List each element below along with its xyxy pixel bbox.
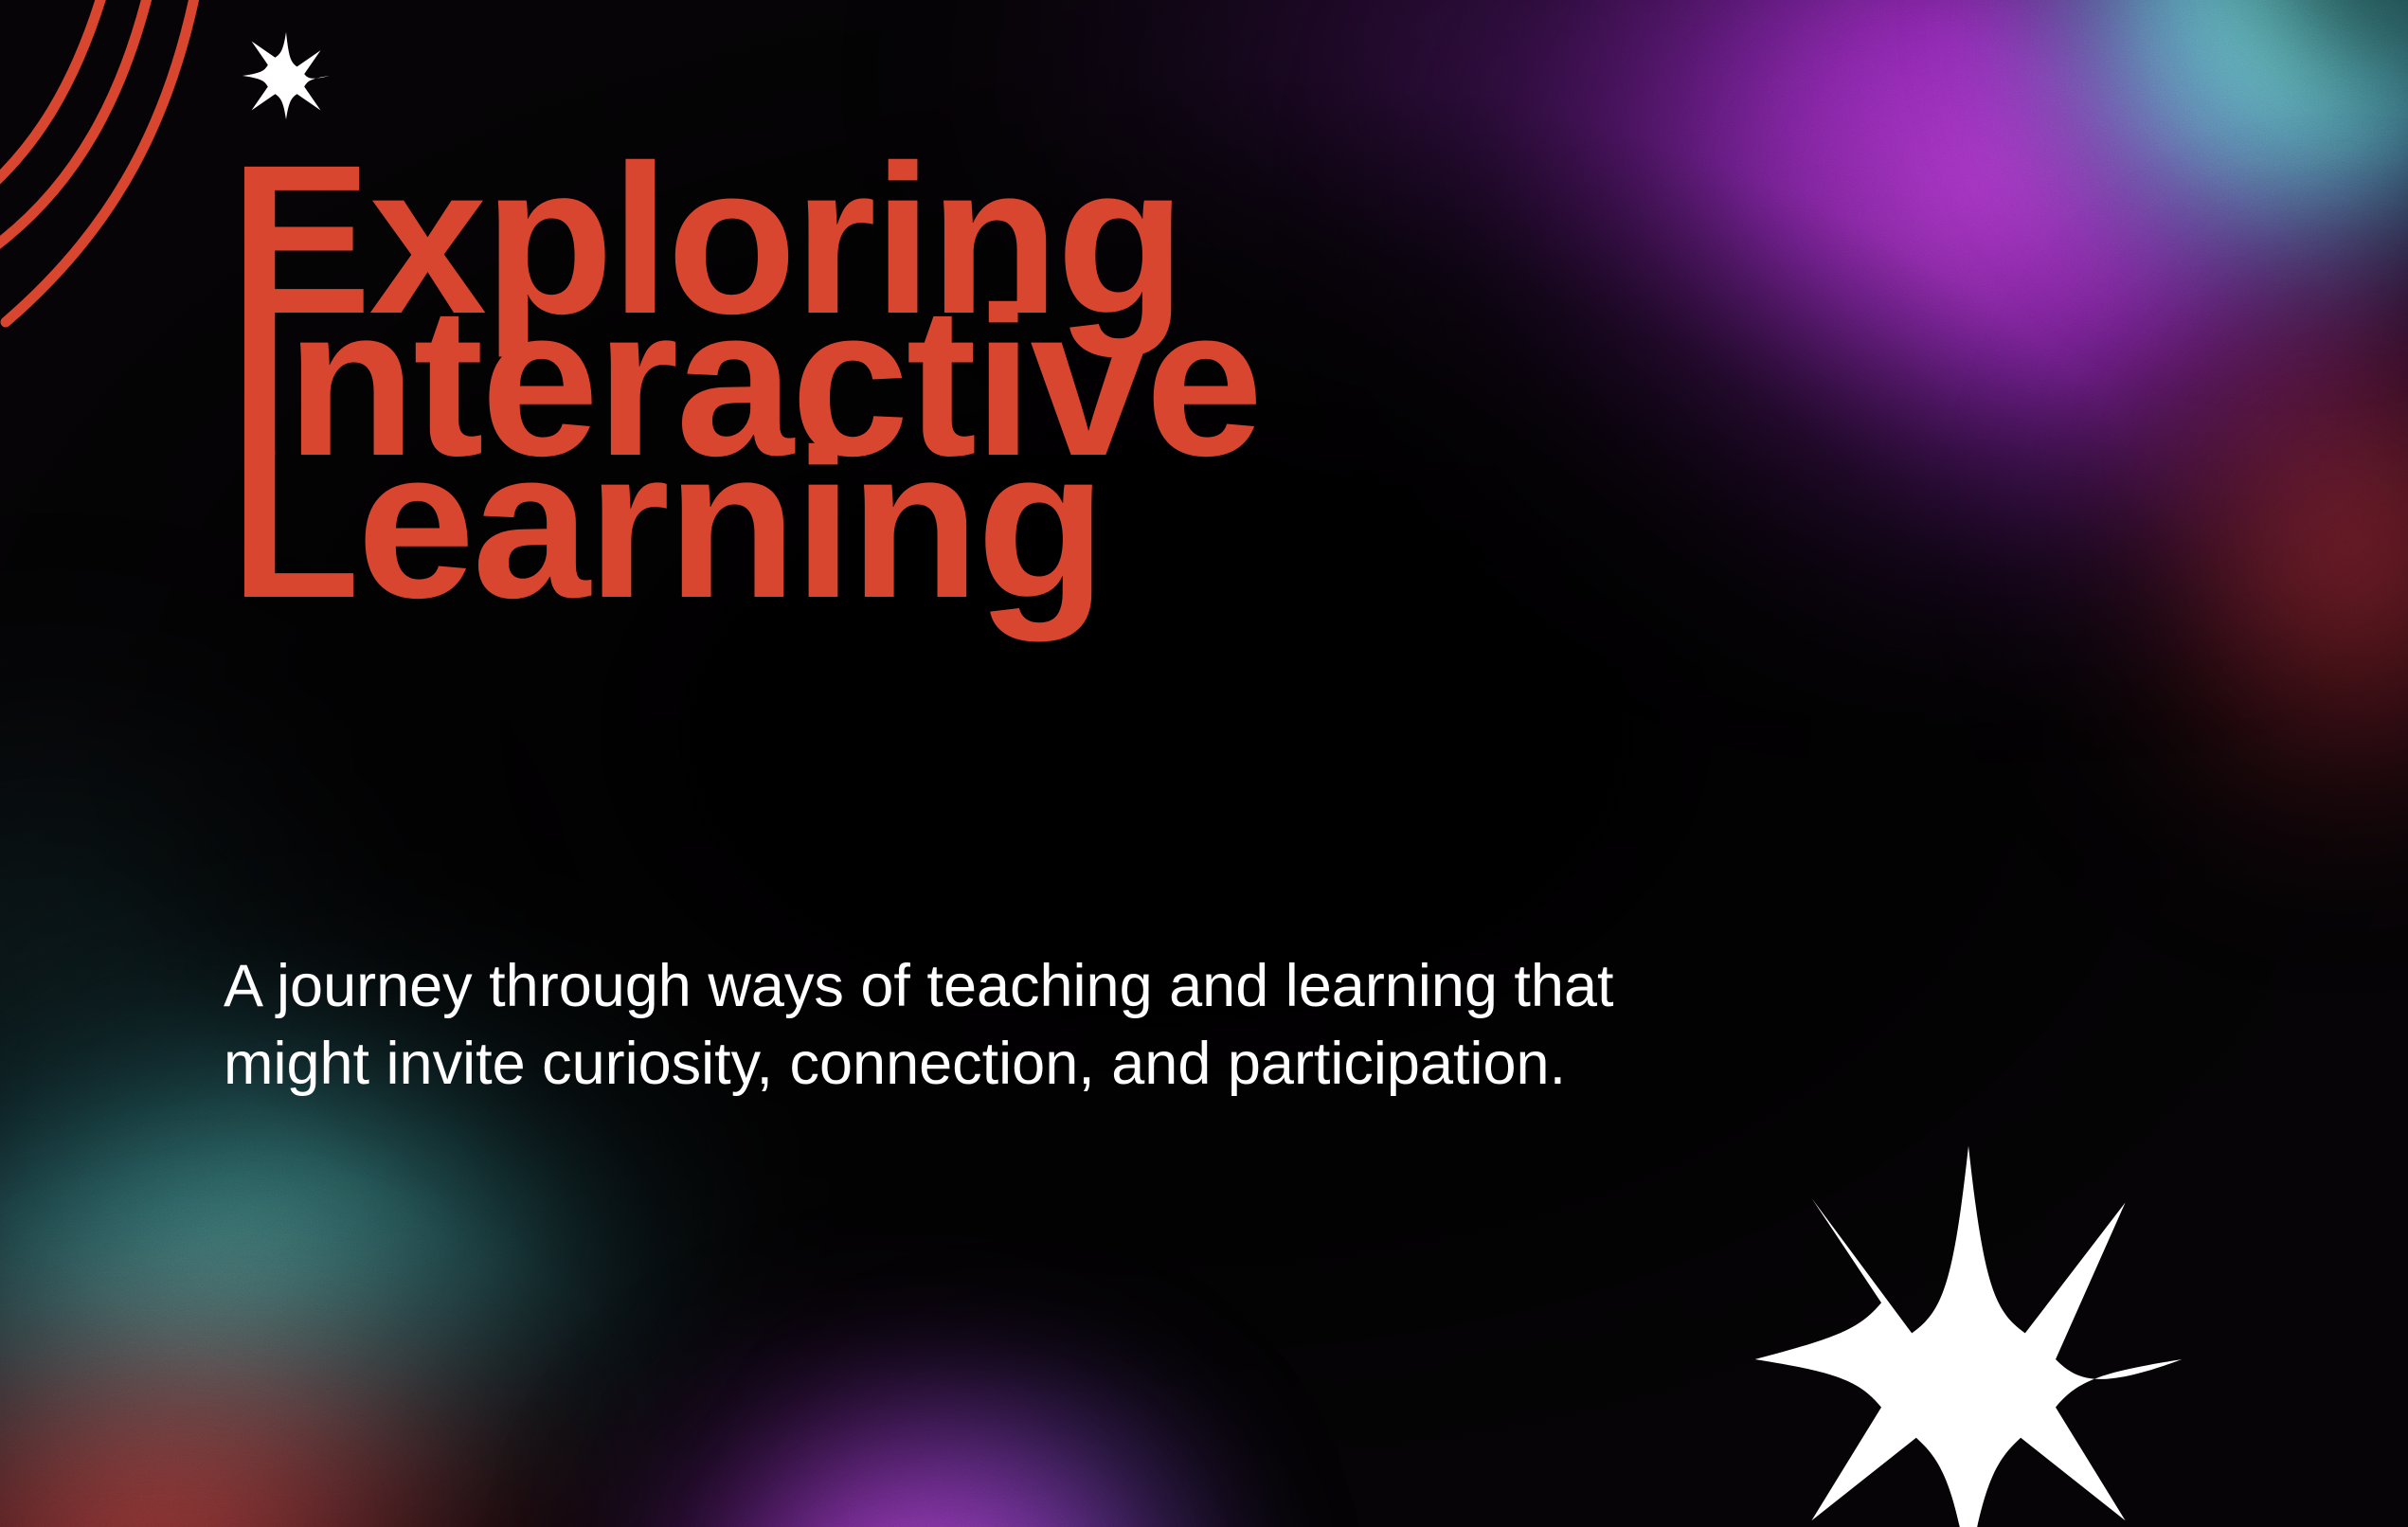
subtitle-line-1: A journey through ways of teaching and l… <box>224 947 1910 1025</box>
page-subtitle: A journey through ways of teaching and l… <box>224 947 1910 1103</box>
presentation-slide: Exploring Interactive Learning A journey… <box>0 0 2408 1527</box>
subtitle-line-2: might invite curiosity, connection, and … <box>224 1025 1910 1103</box>
slide-content: Exploring Interactive Learning A journey… <box>0 0 2408 1527</box>
page-title: Exploring Interactive Learning <box>230 169 2030 595</box>
